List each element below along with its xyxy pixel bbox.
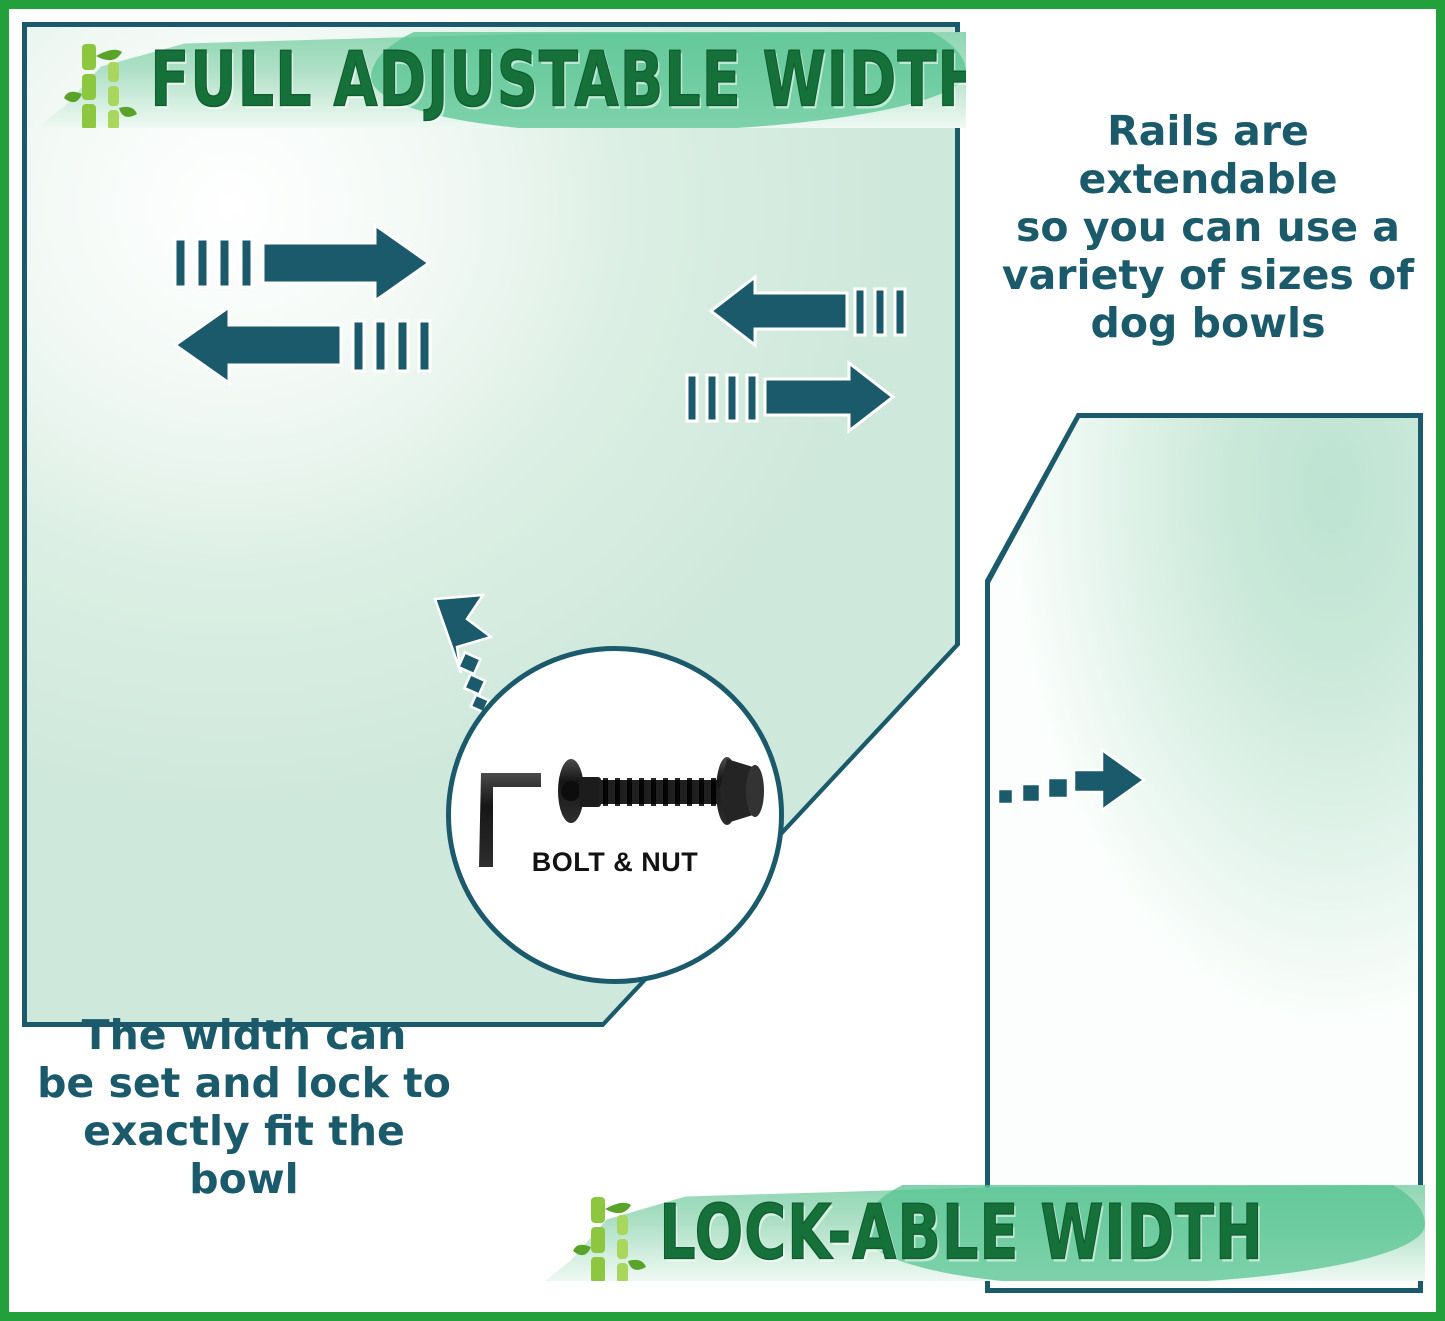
bolt-icon bbox=[558, 759, 725, 823]
callout-label: BOLT & NUT bbox=[451, 847, 779, 878]
hardware-illustration bbox=[465, 739, 775, 849]
nut-icon bbox=[716, 757, 764, 825]
bolt-nut-callout: BOLT & NUT bbox=[446, 646, 784, 984]
outer-green-frame bbox=[0, 0, 1445, 1321]
infographic-canvas: BOLT & NUT FULL ADJUSTABLE WIDTH bbox=[0, 0, 1445, 1321]
